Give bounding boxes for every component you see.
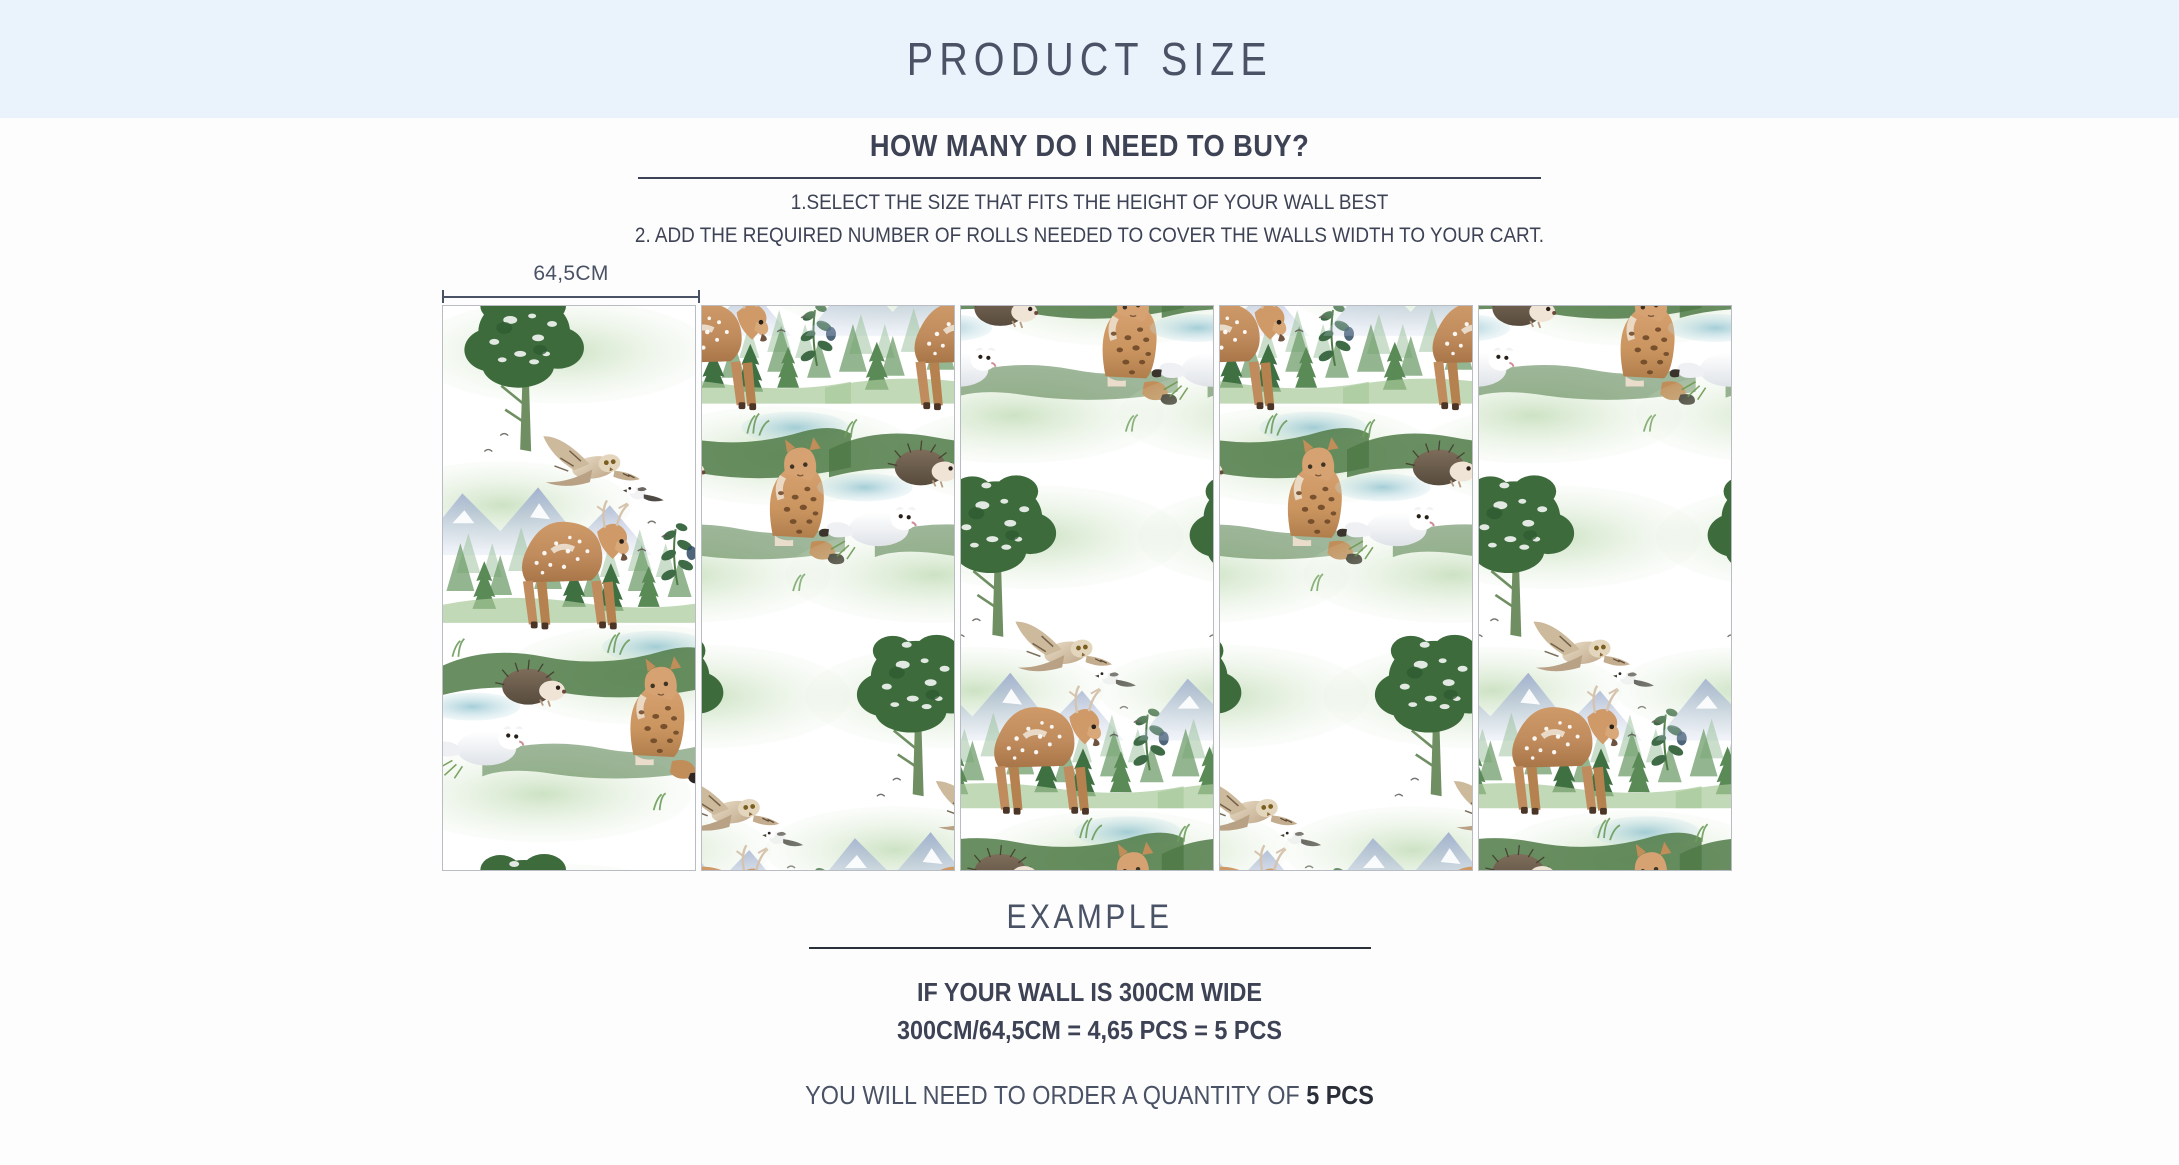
wallpaper-panel-4[interactable]	[1219, 305, 1473, 871]
dimension-cap-right	[698, 290, 700, 303]
page-title: PRODUCT SIZE	[906, 32, 1272, 86]
wallpaper-artwork	[961, 306, 1213, 870]
example-title: EXAMPLE	[131, 898, 2049, 937]
wallpaper-artwork	[702, 306, 954, 870]
wallpaper-artwork	[443, 306, 695, 870]
dimension-bar	[442, 296, 700, 298]
wallpaper-panel-strip	[442, 305, 1735, 871]
dimension-line	[442, 290, 700, 304]
intro-section: HOW MANY DO I NEED TO BUY? 1.SELECT THE …	[0, 128, 2179, 248]
roll-width-dimension: 64,5CM	[442, 262, 700, 304]
example-order-quantity-value: 5 PCS	[1306, 1080, 1374, 1110]
wallpaper-artwork	[1220, 306, 1472, 870]
intro-divider	[638, 177, 1541, 179]
intro-step-1: 1.SELECT THE SIZE THAT FITS THE HEIGHT O…	[109, 191, 2070, 215]
wallpaper-panel-1[interactable]	[442, 305, 696, 871]
wallpaper-panel-3[interactable]	[960, 305, 1214, 871]
intro-step-2: 2. ADD THE REQUIRED NUMBER OF ROLLS NEED…	[109, 224, 2070, 248]
example-divider	[809, 947, 1371, 949]
wallpaper-panel-5[interactable]	[1478, 305, 1732, 871]
example-section: EXAMPLE IF YOUR WALL IS 300CM WIDE 300CM…	[0, 898, 2179, 1111]
wallpaper-artwork	[1479, 306, 1731, 870]
example-order-prefix: YOU WILL NEED TO ORDER A QUANTITY OF	[805, 1080, 1306, 1110]
example-order-quantity: YOU WILL NEED TO ORDER A QUANTITY OF 5 P…	[109, 1080, 2070, 1111]
page-header: PRODUCT SIZE	[0, 0, 2179, 118]
wallpaper-panel-2[interactable]	[701, 305, 955, 871]
dimension-label: 64,5CM	[442, 262, 700, 286]
example-calculation: 300CM/64,5CM = 4,65 PCS = 5 PCS	[109, 1015, 2070, 1046]
example-wall-width: IF YOUR WALL IS 300CM WIDE	[109, 977, 2070, 1008]
intro-heading: HOW MANY DO I NEED TO BUY?	[131, 128, 2049, 164]
